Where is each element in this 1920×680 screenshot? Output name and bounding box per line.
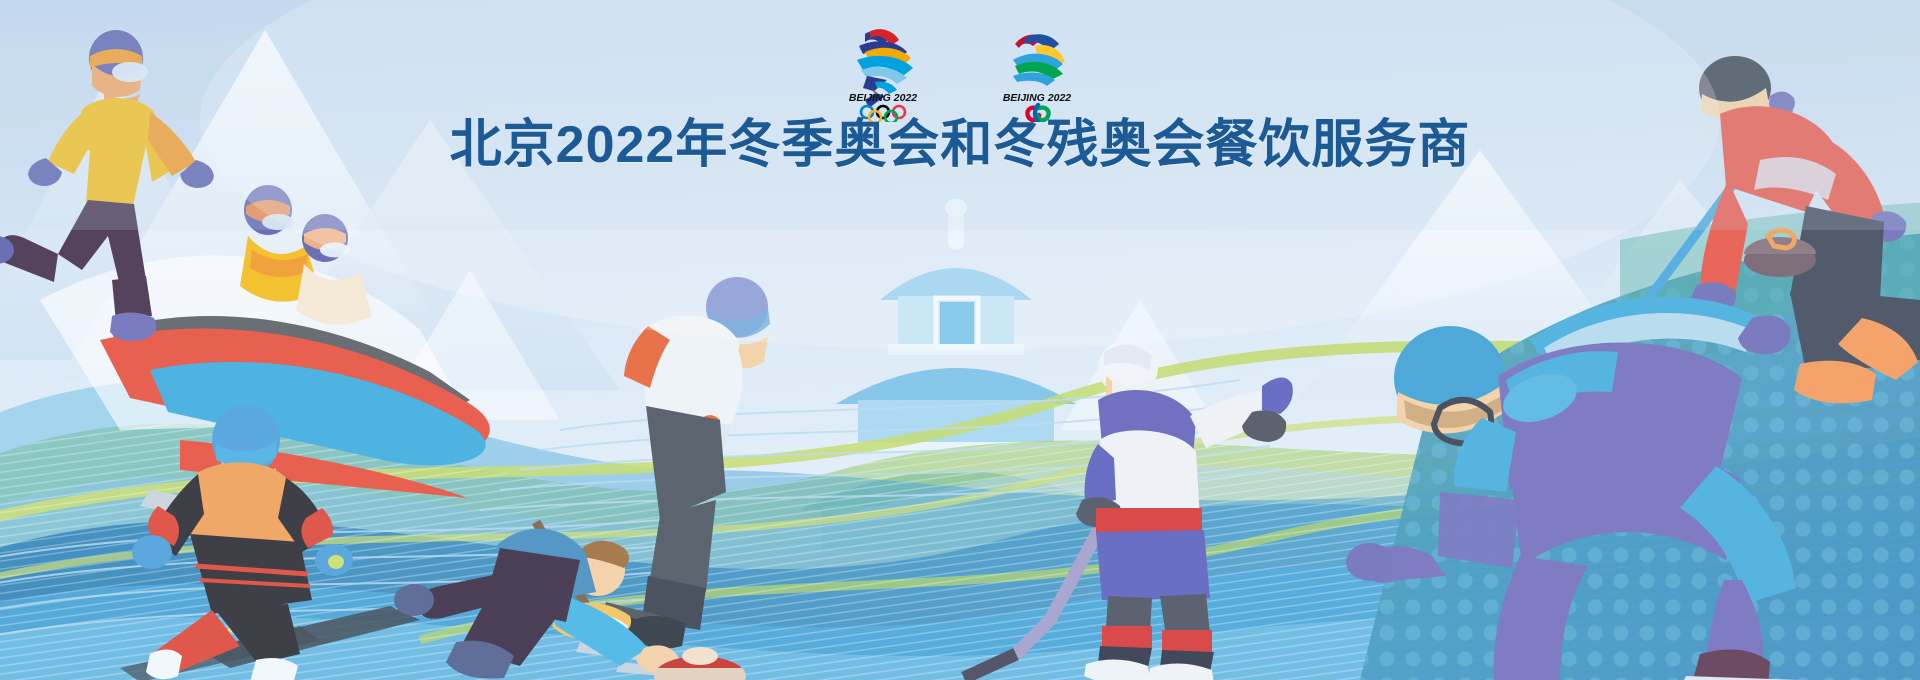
olympic-emblem: BEIJING 2022 — [835, 22, 931, 122]
olympic-banner: BEIJING 2022 — [0, 0, 1920, 680]
page-title-wrap: 北京2022年冬季奥会和冬残奥会餐饮服务商 — [0, 118, 1920, 173]
page-title: 北京2022年冬季奥会和冬残奥会餐饮服务商 — [450, 118, 1471, 173]
paralympic-emblem: BEIJING 2022 — [989, 22, 1085, 122]
emblem-group: BEIJING 2022 — [0, 22, 1920, 122]
paralympic-emblem-graphic: BEIJING 2022 — [989, 22, 1085, 122]
olympic-emblem-graphic: BEIJING 2022 — [835, 22, 931, 122]
flying-high-ribbon-icon — [1013, 34, 1065, 86]
paralympic-wordmark: BEIJING 2022 — [1003, 92, 1071, 104]
olympic-wordmark: BEIJING 2022 — [849, 92, 917, 104]
